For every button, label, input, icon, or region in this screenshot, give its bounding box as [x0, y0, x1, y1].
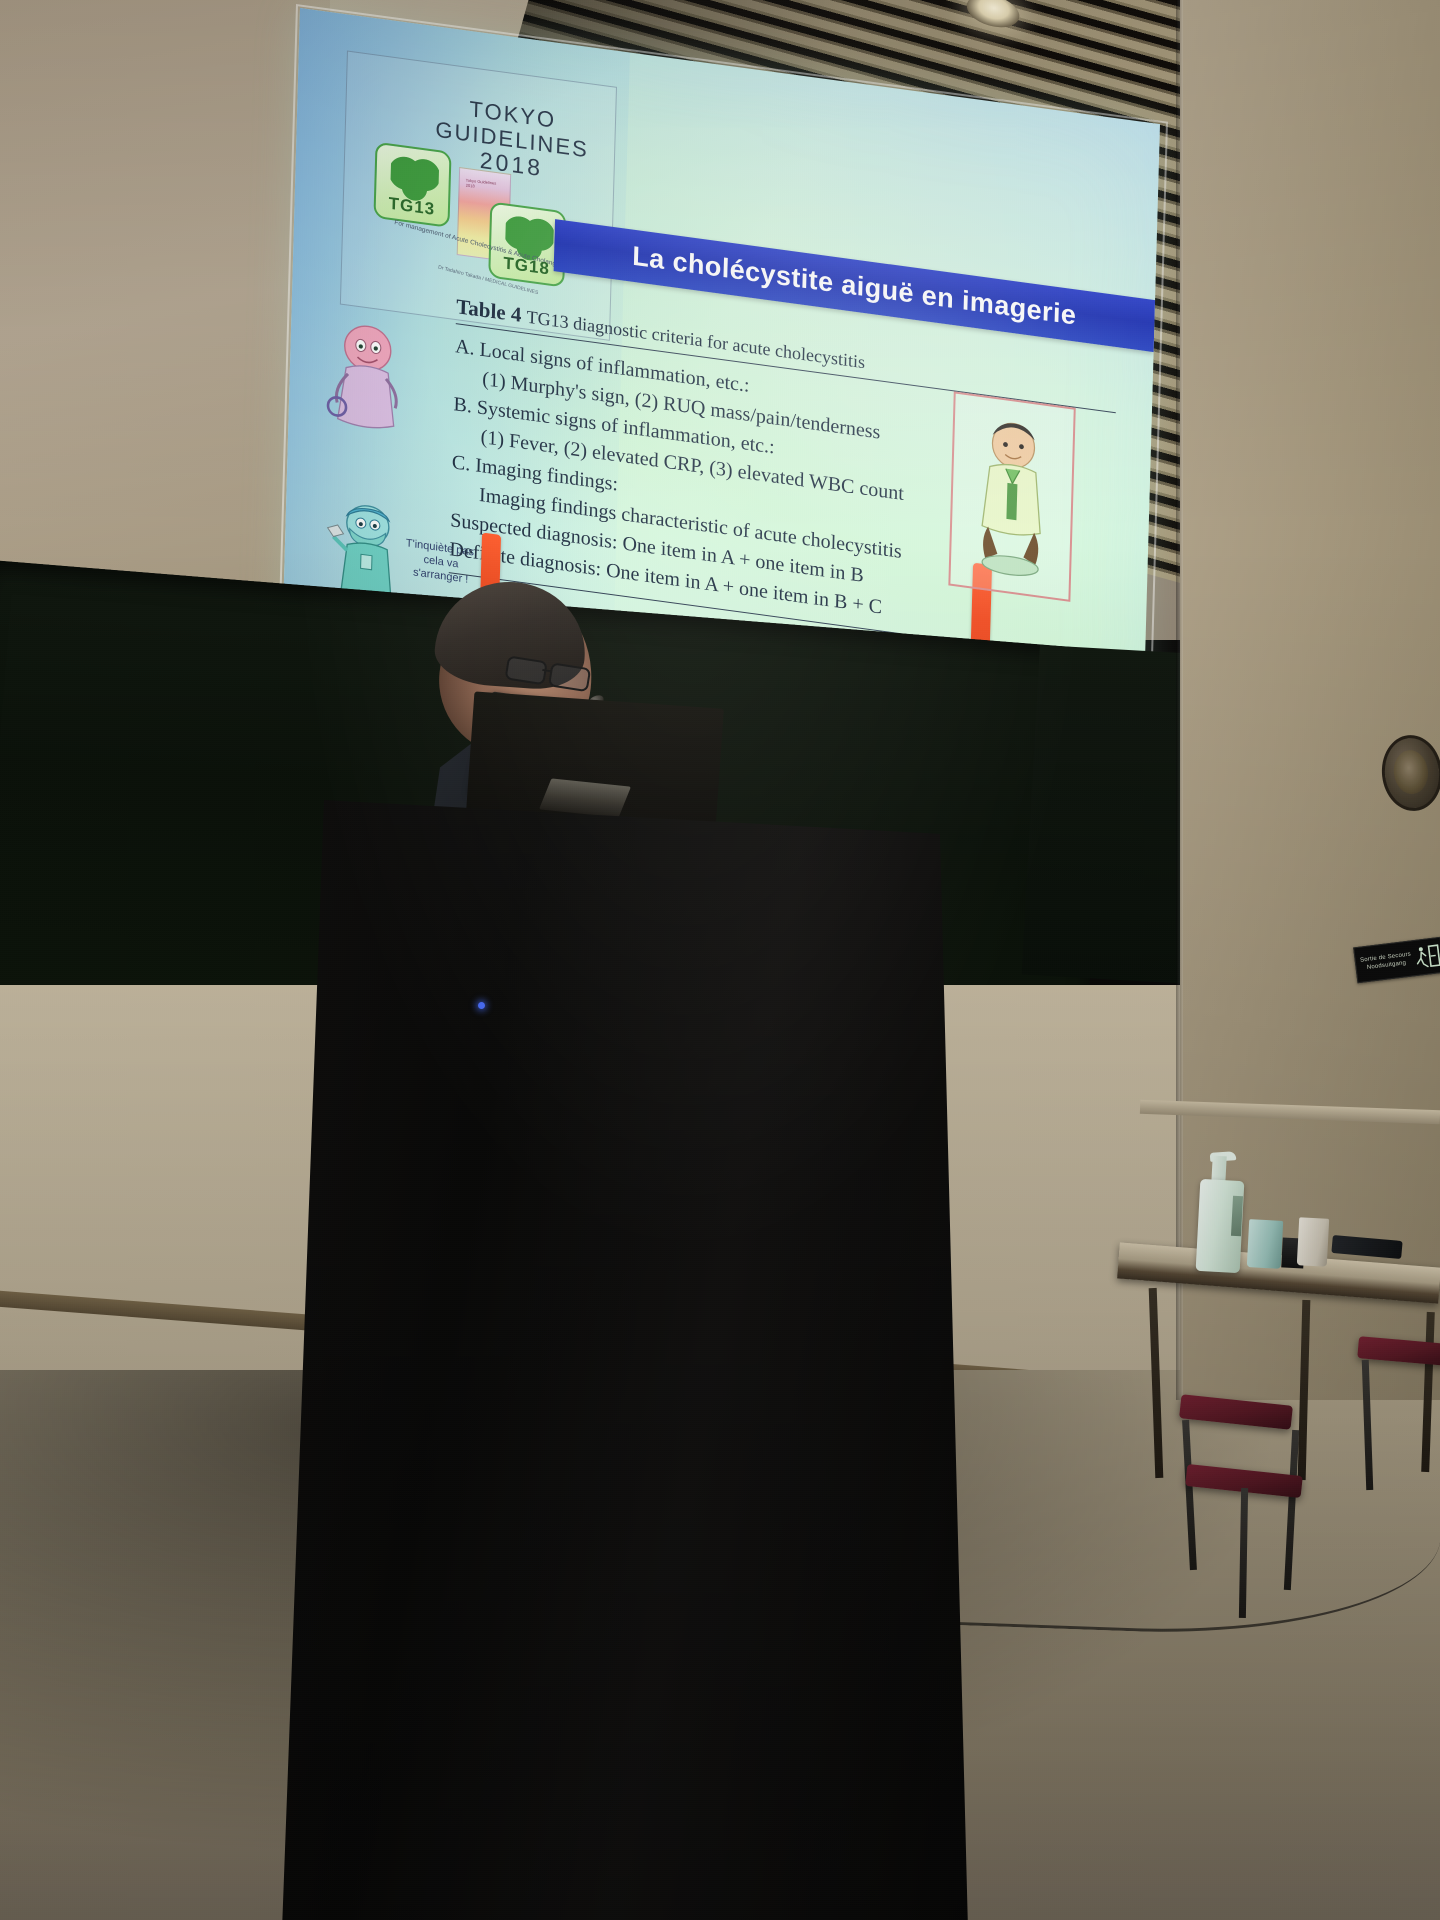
running-man-exit-icon	[1412, 942, 1440, 971]
paper-cup	[1247, 1219, 1283, 1269]
exit-sign-text: Sortie de Secours Noodsuitgang	[1355, 950, 1415, 973]
right-wall-edge	[1176, 0, 1183, 1400]
lectern-indicator-led	[478, 1002, 485, 1009]
plastic-cup	[1297, 1217, 1329, 1267]
lectern	[268, 800, 968, 1920]
lecture-hall-photo: TOKYO GUIDELINES 2018 TG13 Tokyo Guideli…	[0, 0, 1440, 1920]
sanitizer-label	[1231, 1196, 1243, 1236]
clock-face	[1392, 748, 1430, 795]
